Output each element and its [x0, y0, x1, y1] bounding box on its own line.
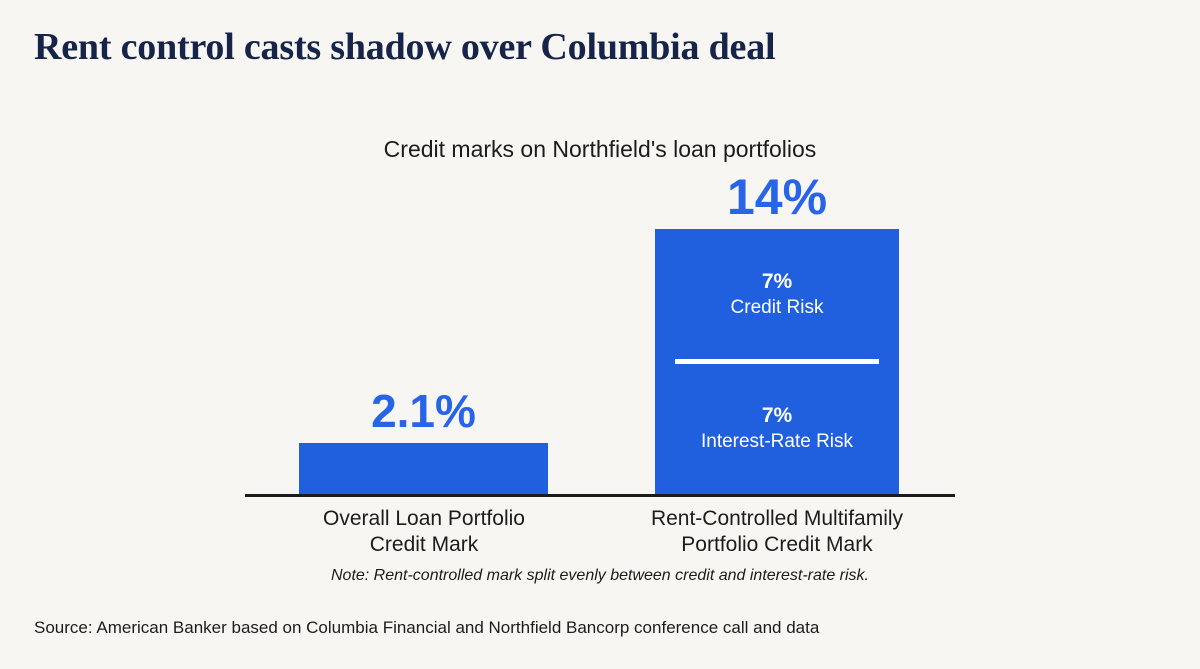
stack-segment-interest-rate-risk: 7% Interest-Rate Risk — [655, 403, 899, 454]
x-axis-label-rent-controlled-line1: Rent-Controlled Multifamily — [616, 506, 938, 532]
segment-label-interest-rate-risk: Interest-Rate Risk — [655, 429, 899, 454]
segment-label-credit-risk: Credit Risk — [655, 295, 899, 320]
stack-divider-line — [675, 359, 879, 364]
segment-value-credit-risk: 7% — [655, 269, 899, 295]
bar-value-label-rent-controlled: 14% — [655, 172, 899, 222]
x-axis-label-rent-controlled-line2: Portfolio Credit Mark — [616, 532, 938, 558]
stack-segment-credit-risk: 7% Credit Risk — [655, 269, 899, 320]
x-axis-label-overall-line2: Credit Mark — [263, 532, 585, 558]
source-attribution: Source: American Banker based on Columbi… — [34, 618, 1164, 638]
segment-value-interest-rate-risk: 7% — [655, 403, 899, 429]
bar-value-label-overall: 2.1% — [299, 388, 548, 434]
bar-chart: Credit marks on Northfield's loan portfo… — [0, 0, 1200, 669]
chart-page: Rent control casts shadow over Columbia … — [0, 0, 1200, 669]
x-axis-baseline — [245, 494, 955, 497]
bar-overall-loan-portfolio — [299, 443, 548, 494]
chart-note: Note: Rent-controlled mark split evenly … — [240, 567, 960, 585]
x-axis-label-rent-controlled: Rent-Controlled Multifamily Portfolio Cr… — [616, 506, 938, 558]
x-axis-label-overall: Overall Loan Portfolio Credit Mark — [263, 506, 585, 558]
bar-rent-controlled-multifamily: 7% Credit Risk 7% Interest-Rate Risk — [655, 229, 899, 494]
x-axis-label-overall-line1: Overall Loan Portfolio — [263, 506, 585, 532]
chart-title: Credit marks on Northfield's loan portfo… — [300, 136, 900, 163]
